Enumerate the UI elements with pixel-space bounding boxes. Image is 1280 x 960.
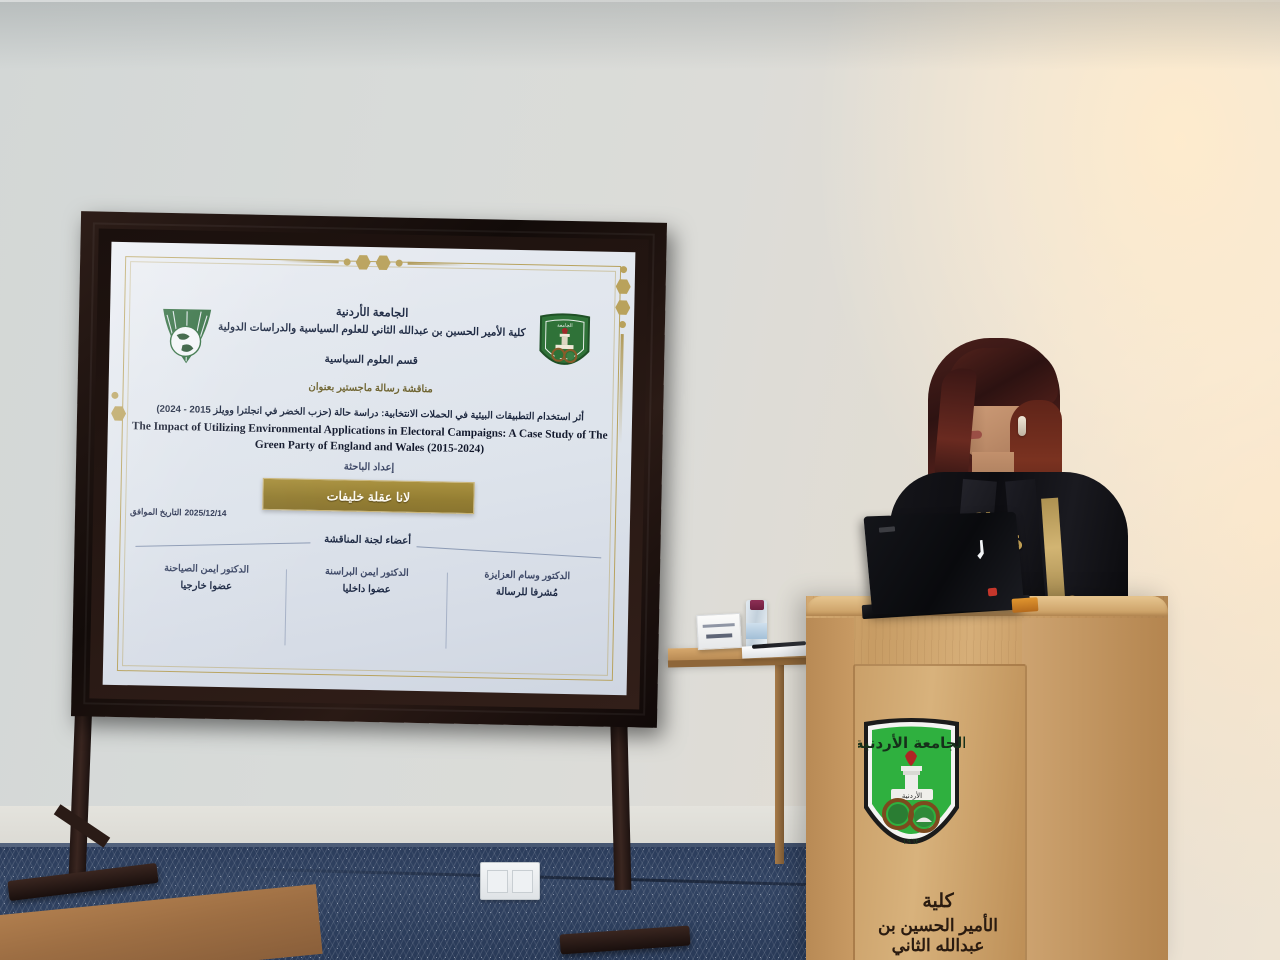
water-bottle-cap[interactable] <box>750 600 764 610</box>
podium-inscription-line2: الأمير الحسين بن عبدالله الثاني <box>853 916 1023 956</box>
thesis-poster: الجامعة الجامعة الأردنية كلية الأمير الح… <box>103 242 636 695</box>
presentation-scene: الجامعة الجامعة الأردنية كلية الأمير الح… <box>0 0 1280 960</box>
poster-frame: الجامعة الجامعة الأردنية كلية الأمير الح… <box>71 211 667 728</box>
svg-text:١٩٦٢: ١٩٦٢ <box>902 837 919 846</box>
university-of-jordan-shield: الجامعة الأردنية الأردنية ١٩٦٢ <box>858 712 965 884</box>
shield-text: الجامعة الأردنية <box>858 734 965 752</box>
ceiling-shadow <box>0 0 1280 70</box>
podium-panel-right <box>1022 618 1168 960</box>
wall-seam <box>0 0 1280 2</box>
laptop-badge <box>1012 597 1039 613</box>
water-bottle-label <box>746 623 767 639</box>
name-card <box>696 613 742 650</box>
podium-inscription-line1: كلية <box>853 890 1023 913</box>
podium-panel-left <box>806 618 854 960</box>
wall-power-outlet[interactable] <box>480 862 540 900</box>
poster-glare <box>103 242 636 695</box>
name-card-line <box>703 623 735 628</box>
earring <box>1018 416 1026 436</box>
podium-inscription: كلية الأمير الحسين بن عبدالله الثاني <box>853 890 1023 956</box>
svg-text:الأردنية: الأردنية <box>902 791 922 800</box>
laptop-indicator <box>988 588 998 597</box>
name-card-line <box>706 633 732 638</box>
side-table-leg <box>775 664 784 864</box>
